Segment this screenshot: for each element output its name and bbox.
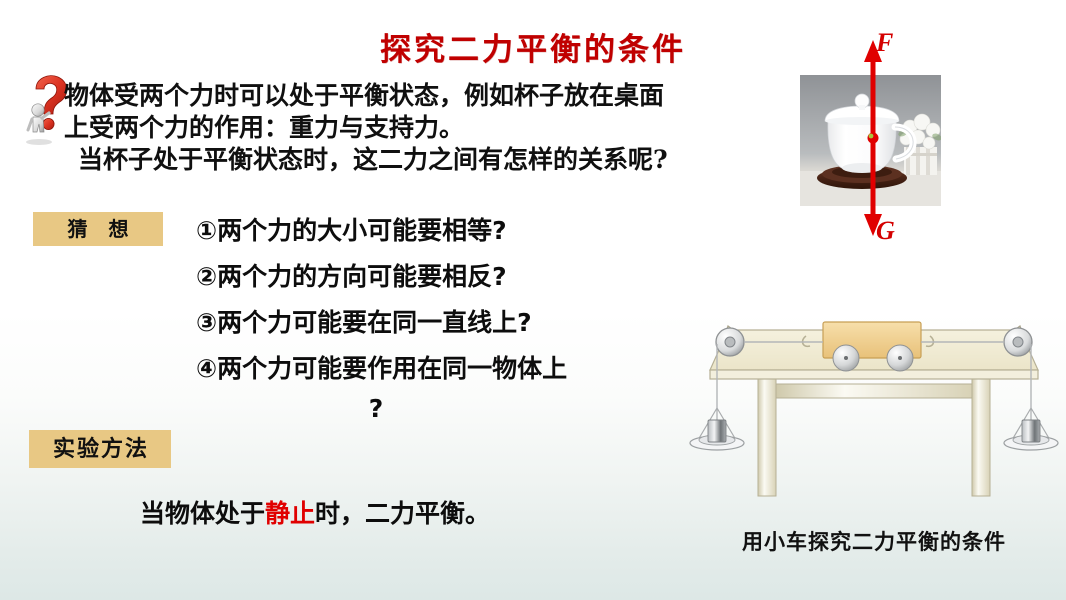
list-item-wrap-question: ? [226,392,526,426]
guess-list: ①两个力的大小可能要相等? ②两个力的方向可能要相反? ③两个力可能要在同一直线… [196,208,756,426]
figure-caption: 用小车探究二力平衡的条件 [686,526,1062,556]
guess-section-label: 猜 想 [33,212,163,246]
conclusion-prefix: 当物体处于 [140,499,265,528]
conclusion-suffix: 时，二力平衡。 [315,499,490,528]
cart-on-table-with-pulleys-diagram [686,312,1062,527]
force-arrow-double [860,38,886,238]
list-item: ④两个力可能要作用在同一物体上 ? [196,346,756,426]
list-item: ③两个力可能要在同一直线上? [196,300,756,346]
cup-force-figure: F G [800,30,950,245]
force-label-g: G [876,216,895,246]
list-item: ①两个力的大小可能要相等? [196,208,756,254]
conclusion-text: 当物体处于静止时，二力平衡。 [140,494,660,530]
force-label-f: F [876,28,893,58]
intro-line-2: 上受两个力的作用：重力与支持力。 [64,112,794,144]
list-item: ②两个力的方向可能要相反? [196,254,756,300]
list-item-text: ④两个力可能要作用在同一物体上 [196,354,567,383]
conclusion-highlight: 静止 [265,499,315,528]
intro-line-1: 物体受两个力时可以处于平衡状态，例如杯子放在桌面 [64,80,794,112]
intro-paragraph: 物体受两个力时可以处于平衡状态，例如杯子放在桌面 上受两个力的作用：重力与支持力… [64,80,794,176]
slide-canvas: 探究二力平衡的条件 [0,0,1066,600]
intro-line-3: 当杯子处于平衡状态时，这二力之间有怎样的关系呢? [64,144,794,176]
method-section-label: 实验方法 [29,430,171,468]
